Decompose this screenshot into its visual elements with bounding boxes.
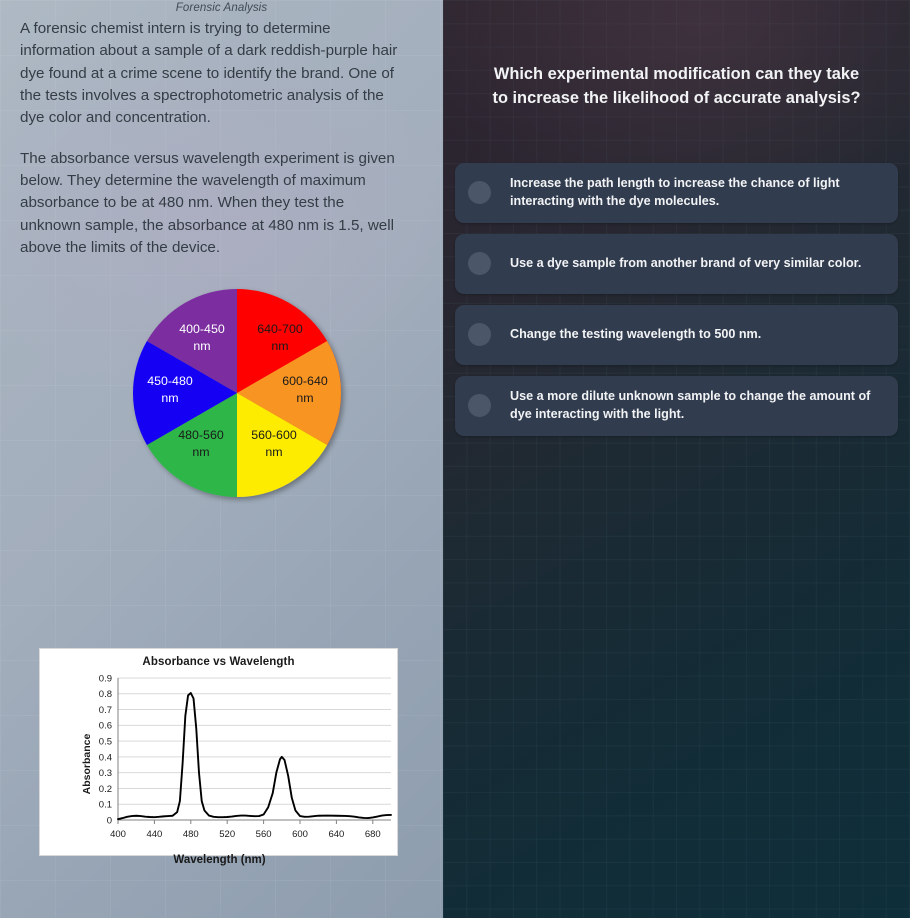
chart-svg: 0.90.80.70.60.50.40.30.20.10400440480520…: [40, 668, 399, 854]
wheel-label-450-480-line1: 450-480: [147, 374, 193, 388]
chart-x-tick-label: 520: [219, 829, 235, 840]
color-wheel-svg: 640-700 nm 600-640 nm 560-600 nm 480-560…: [128, 289, 348, 499]
absorbance-chart: Absorbance vs Wavelength Absorbance 0.90…: [39, 648, 398, 856]
radio-button-b[interactable]: [468, 252, 491, 275]
color-wheel: 640-700 nm 600-640 nm 560-600 nm 480-560…: [128, 289, 348, 499]
answer-option-c[interactable]: Change the testing wavelength to 500 nm.: [455, 305, 898, 365]
stimulus-paragraph-2: The absorbance versus wavelength experim…: [20, 148, 405, 260]
chart-y-tick-label: 0.7: [99, 705, 112, 716]
chart-title: Absorbance vs Wavelength: [40, 649, 397, 668]
chart-y-tick-label: 0: [107, 815, 112, 826]
wheel-label-400-450-line1: 400-450: [179, 322, 225, 336]
chart-x-tick-label: 440: [146, 829, 162, 840]
radio-button-c[interactable]: [468, 323, 491, 346]
stimulus-body: A forensic chemist intern is trying to d…: [20, 18, 423, 259]
chart-y-tick-label: 0.6: [99, 721, 112, 732]
chart-series-line: [118, 693, 391, 819]
wheel-label-480-560-line1: 480-560: [178, 428, 224, 442]
wheel-label-600-640-line2: nm: [296, 391, 313, 405]
wheel-label-400-450-line2: nm: [193, 339, 210, 353]
chart-y-axis-label: Absorbance: [81, 734, 93, 795]
question-prompt: Which experimental modification can they…: [485, 62, 868, 111]
chart-y-tick-label: 0.3: [99, 768, 112, 779]
stimulus-title: Forensic Analysis: [20, 0, 423, 14]
chart-plot-area: Absorbance 0.90.80.70.60.50.40.30.20.104…: [40, 668, 399, 854]
answer-option-label-b: Use a dye sample from another brand of v…: [510, 255, 861, 273]
answer-option-label-c: Change the testing wavelength to 500 nm.: [510, 326, 761, 344]
chart-x-tick-label: 640: [328, 829, 344, 840]
chart-y-tick-label: 0.8: [99, 689, 112, 700]
chart-x-tick-label: 400: [110, 829, 126, 840]
answer-option-d[interactable]: Use a more dilute unknown sample to chan…: [455, 376, 898, 436]
answer-option-label-a: Increase the path length to increase the…: [510, 175, 882, 211]
answer-option-label-d: Use a more dilute unknown sample to chan…: [510, 388, 882, 424]
wheel-label-450-480-line2: nm: [161, 391, 178, 405]
wheel-label-560-600-line2: nm: [265, 445, 282, 459]
chart-y-tick-label: 0.9: [99, 673, 112, 684]
chart-y-tick-label: 0.1: [99, 800, 112, 811]
radio-button-d[interactable]: [468, 394, 491, 417]
answer-option-b[interactable]: Use a dye sample from another brand of v…: [455, 234, 898, 294]
wheel-label-600-640-line1: 600-640: [282, 374, 328, 388]
answer-options-list: Increase the path length to increase the…: [455, 163, 898, 436]
chart-x-tick-label: 600: [292, 829, 308, 840]
chart-x-tick-label: 480: [183, 829, 199, 840]
radio-button-a[interactable]: [468, 181, 491, 204]
chart-y-tick-label: 0.5: [99, 737, 112, 748]
wheel-label-640-700-line2: nm: [271, 339, 288, 353]
stimulus-panel: Forensic Analysis A forensic chemist int…: [0, 0, 443, 918]
chart-x-tick-label: 560: [256, 829, 272, 840]
chart-x-tick-label: 680: [365, 829, 381, 840]
chart-y-tick-label: 0.2: [99, 784, 112, 795]
wheel-label-640-700-line1: 640-700: [257, 322, 303, 336]
wheel-label-480-560-line2: nm: [192, 445, 209, 459]
question-panel: Which experimental modification can they…: [443, 0, 910, 918]
answer-option-a[interactable]: Increase the path length to increase the…: [455, 163, 898, 223]
wheel-label-560-600-line1: 560-600: [251, 428, 297, 442]
stimulus-paragraph-1: A forensic chemist intern is trying to d…: [20, 18, 405, 130]
color-wheel-figure: 640-700 nm 600-640 nm 560-600 nm 480-560…: [20, 289, 423, 519]
chart-y-tick-label: 0.4: [99, 752, 112, 763]
chart-x-axis-label: Wavelength (nm): [40, 854, 399, 866]
